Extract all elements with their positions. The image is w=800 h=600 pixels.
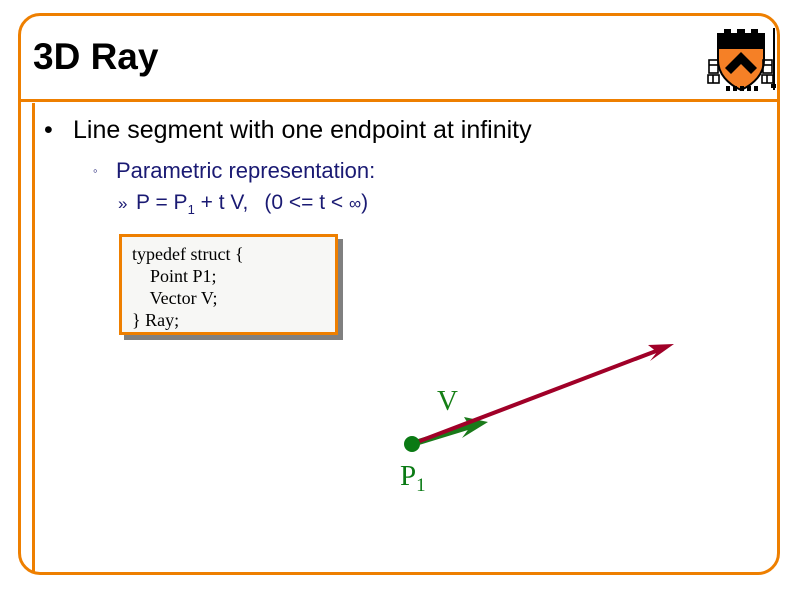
code-box: typedef struct { Point P1; Vector V; } R…: [119, 234, 338, 335]
princeton-shield-logo: [706, 24, 776, 96]
body-left-rule: [32, 103, 35, 572]
page-title: 3D Ray: [33, 35, 158, 79]
equation-range-close: ): [361, 191, 368, 214]
point-p1-dot: [404, 436, 420, 452]
equation-subscript: 1: [188, 202, 195, 217]
bullet-level1: •Line segment with one endpoint at infin…: [44, 115, 532, 145]
title-separator-rule: [21, 99, 777, 102]
point-label-p1-text: P: [400, 460, 416, 492]
bullet-level2-text: Parametric representation:: [116, 158, 375, 183]
equation-suffix: + t V,: [195, 191, 249, 214]
bullet-level2: ◦Parametric representation:: [93, 158, 375, 184]
bullet-marker-dot: •: [44, 115, 73, 145]
bullet-marker-circle: ◦: [93, 158, 116, 184]
bullet-level1-text: Line segment with one endpoint at infini…: [73, 116, 532, 144]
bullet-level3-equation: »P = P1 + t V,(0 <= t < ∞): [118, 190, 368, 222]
bullet-marker-guillemet: »: [118, 191, 136, 216]
ray-diagram: [380, 325, 700, 515]
equation-prefix: P = P: [136, 191, 188, 214]
slide: 3D Ray: [0, 0, 800, 600]
code-box-text: typedef struct { Point P1; Vector V; } R…: [122, 237, 335, 331]
equation-range-open: (0 <= t <: [264, 191, 349, 214]
infinity-symbol: ∞: [349, 194, 361, 213]
point-label-p1: P1: [400, 461, 426, 501]
vector-label-v: V: [437, 386, 458, 416]
point-label-p1-subscript: 1: [416, 475, 426, 496]
